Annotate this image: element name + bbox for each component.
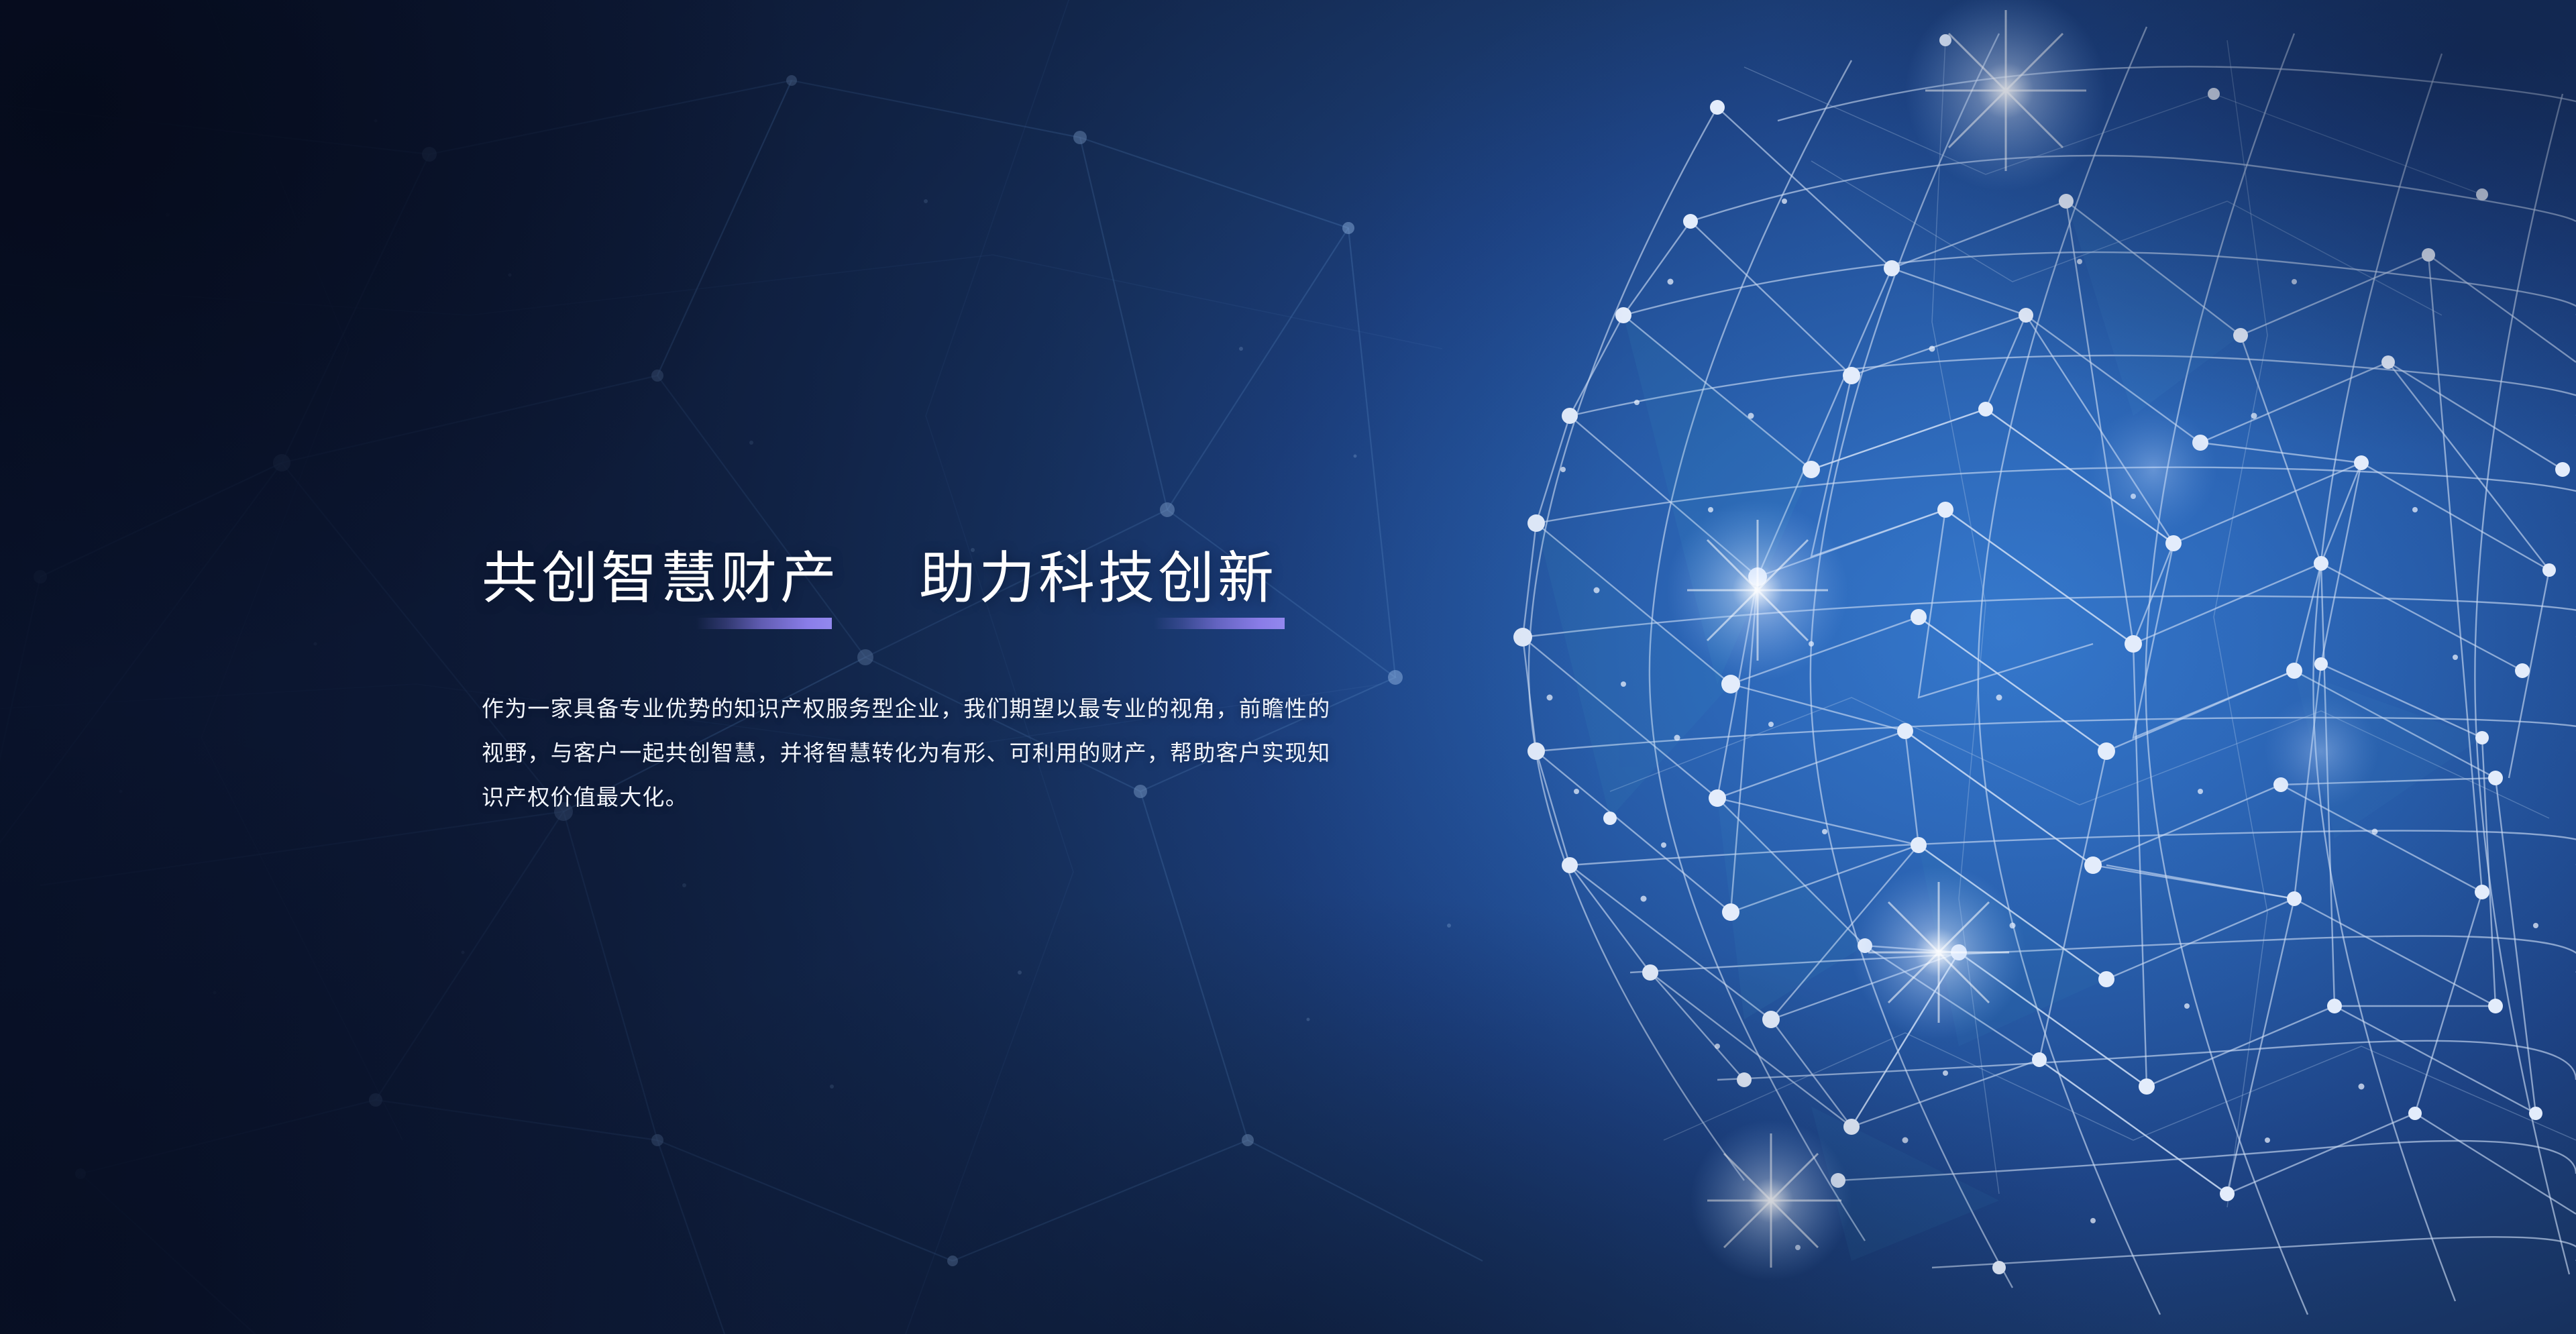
headline-phrase-1-text: 共创智慧财产 [482,550,840,608]
banner-root: 共创智慧财产 助力科技创新 作为一家具备专业优势的知识产权服务型企业，我们期望以… [0,0,2576,1334]
page-title: 共创智慧财产 助力科技创新 [482,550,1474,608]
accent-bar-1 [696,618,832,629]
banner-content: 共创智慧财产 助力科技创新 作为一家具备专业优势的知识产权服务型企业，我们期望以… [482,550,1474,842]
headline-phrase-2-text: 助力科技创新 [919,550,1277,608]
accent-bar-2 [1154,618,1285,629]
headline-phrase-2: 助力科技创新 [919,550,1277,608]
headline-phrase-1: 共创智慧财产 [482,550,840,608]
banner-description: 作为一家具备专业优势的知识产权服务型企业，我们期望以最专业的视角，前瞻性的视野，… [482,687,1347,820]
